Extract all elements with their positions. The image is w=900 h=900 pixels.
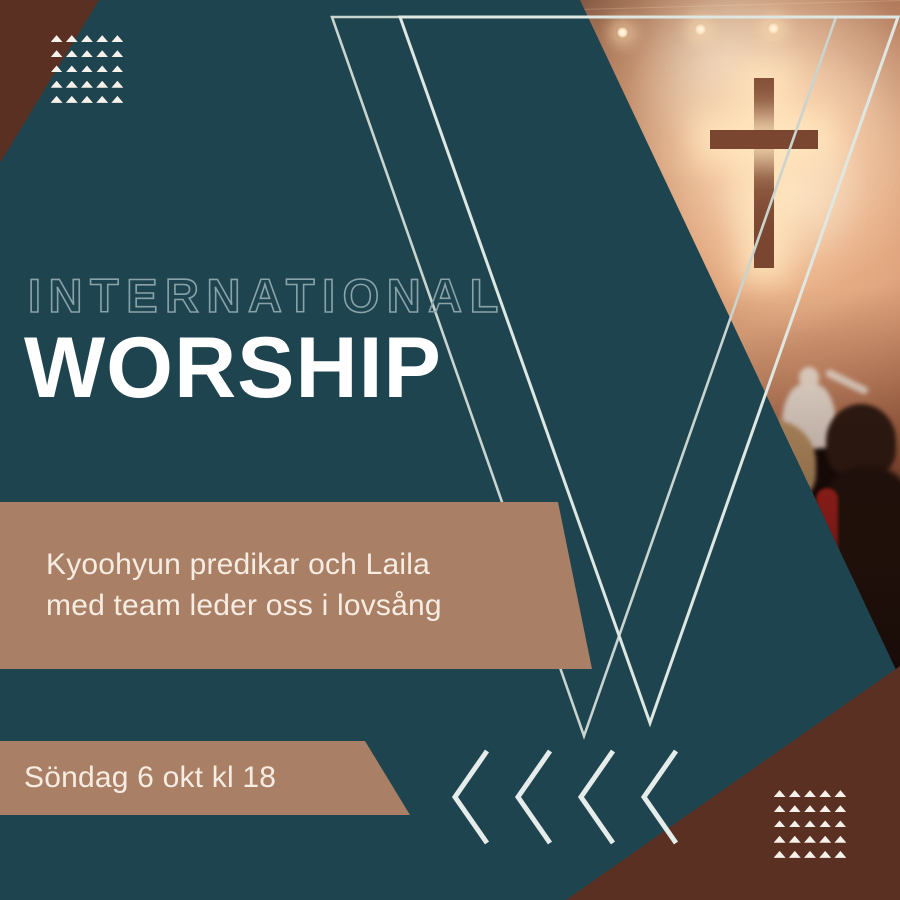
grid-triangle-dot [834,836,846,843]
grid-triangle-dot [789,805,801,812]
grid-triangle-dot [66,81,78,88]
grid-triangle-dot [111,50,123,57]
description-line-2: med team leder oss i lovsång [46,586,442,627]
grid-triangle-dot [96,65,108,72]
grid-triangle-dot [51,96,63,103]
grid-triangle-dot [51,35,63,42]
chevron-left-icon [581,751,613,843]
grid-triangle-dot [81,35,93,42]
description-banner: Kyoohyun predikar och Laila med team led… [0,502,600,669]
grid-triangle-dot [774,820,786,827]
grid-triangle-dot [66,35,78,42]
grid-triangle-dot [834,820,846,827]
grid-triangle-dot [804,836,816,843]
grid-triangle-dot [789,851,801,858]
date-text: Söndag 6 okt kl 18 [24,761,276,795]
page-title: WORSHIP [24,325,442,411]
grid-triangle-dot [96,50,108,57]
grid-triangle-dot [111,81,123,88]
grid-triangle-dot [51,65,63,72]
grid-triangle-dot [81,81,93,88]
grid-triangle-dot [51,50,63,57]
grid-triangle-dot [66,96,78,103]
grid-triangle-dot [66,65,78,72]
grid-triangle-dot [789,836,801,843]
grid-triangle-dot [774,851,786,858]
grid-triangle-dot [834,851,846,858]
grid-triangle-dot [804,851,816,858]
chevron-left-icon [455,751,487,843]
grid-triangle-dot [96,35,108,42]
poster-canvas: INTERNATIONAL WORSHIP Kyoohyun predikar … [0,0,900,900]
grid-triangle-dot [819,836,831,843]
grid-triangle-dot [111,35,123,42]
grid-triangle-dot [81,50,93,57]
grid-triangle-dot [819,851,831,858]
grid-triangle-dot [774,790,786,797]
grid-triangle-dot [834,790,846,797]
grid-triangle-dot [774,805,786,812]
description-text: Kyoohyun predikar och Laila med team led… [46,545,442,626]
grid-triangle-dot [789,820,801,827]
grid-triangle-dot [819,805,831,812]
grid-triangle-dot [111,65,123,72]
grid-triangle-dot [774,836,786,843]
grid-triangle-dot [81,96,93,103]
grid-triangle-dot [66,50,78,57]
grid-triangle-dot [834,805,846,812]
dot-grid-bottom-right [772,786,848,862]
dot-grid-top-left [49,31,125,107]
grid-triangle-dot [804,790,816,797]
chevron-group [447,745,692,850]
chevron-left-icon [644,751,676,843]
grid-triangle-dot [789,790,801,797]
description-line-1: Kyoohyun predikar och Laila [46,545,442,586]
headline-overline: INTERNATIONAL [28,272,506,319]
chevron-left-icon [518,751,550,843]
grid-triangle-dot [819,790,831,797]
grid-triangle-dot [111,96,123,103]
grid-triangle-dot [804,805,816,812]
grid-triangle-dot [96,96,108,103]
grid-triangle-dot [51,81,63,88]
grid-triangle-dot [804,820,816,827]
grid-triangle-dot [96,81,108,88]
grid-triangle-dot [819,820,831,827]
grid-triangle-dot [81,65,93,72]
